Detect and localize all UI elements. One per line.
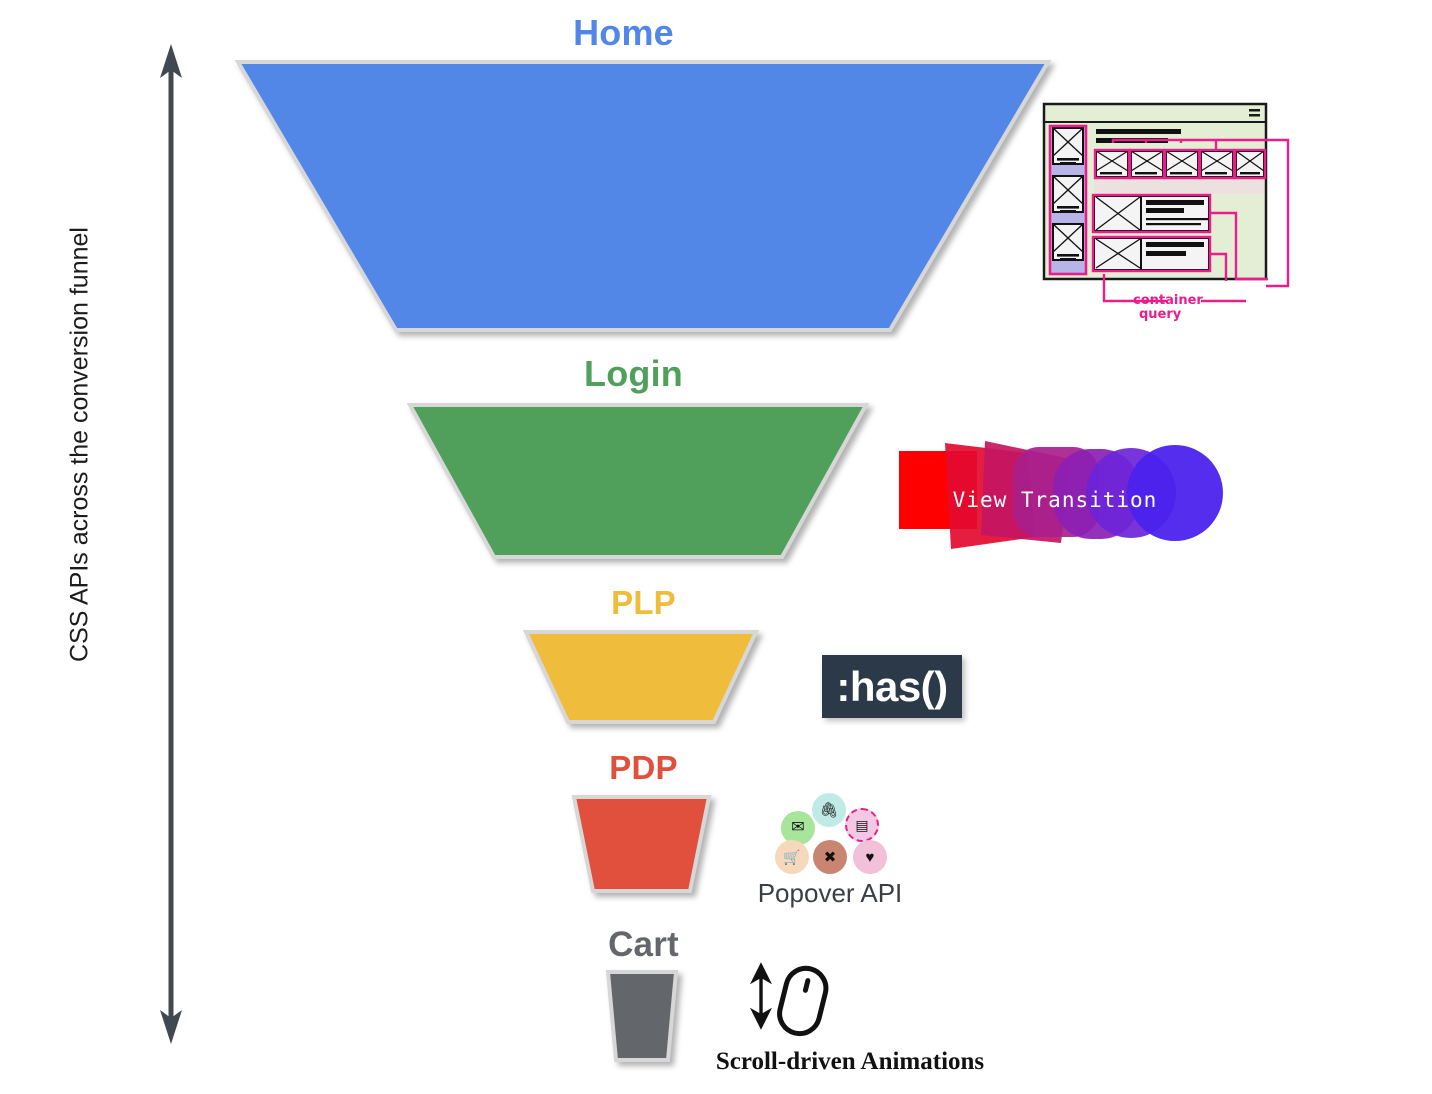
close-x-icon[interactable]: ✖ [813, 840, 847, 874]
view-transition-label: View Transition [885, 425, 1225, 575]
funnel-stage-pdp[interactable] [574, 797, 709, 891]
mouse-scroll-icon [745, 962, 845, 1040]
funnel-diagram-canvas: CSS APIs across the conversion funnel Ho… [0, 0, 1432, 1094]
popover-api-icon-cluster: ✉ 🖇 ▤ 🛒 ✖ ♥ [775, 793, 895, 875]
paperclip-icon[interactable]: 🖇 [812, 793, 846, 827]
container-query-label-line2: query [1139, 307, 1182, 322]
stage-label-home: Home [456, 12, 791, 54]
funnel-stage-login[interactable] [410, 405, 866, 557]
funnel-stage-cart[interactable] [608, 972, 676, 1060]
scroll-driven-animations-label: Scroll-driven Animations [655, 1048, 1045, 1076]
view-transition-illustration: View Transition [885, 425, 1225, 575]
stage-label-login: Login [466, 353, 801, 395]
shopping-cart-icon[interactable]: 🛒 [775, 840, 809, 874]
funnel-stage-plp[interactable] [526, 632, 756, 722]
funnel-stage-home[interactable] [238, 62, 1048, 330]
popover-api-label: Popover API [700, 878, 960, 909]
axis-label: CSS APIs across the conversion funnel [66, 165, 95, 725]
has-selector-label: :has() [836, 663, 947, 711]
floppy-disk-icon[interactable]: ▤ [845, 808, 879, 842]
heart-icon[interactable]: ♥ [853, 840, 887, 874]
stage-label-plp: PLP [476, 584, 811, 622]
vertical-axis-arrow [160, 44, 182, 1044]
stage-label-cart: Cart [476, 925, 811, 965]
has-selector-badge: :has() [822, 655, 962, 718]
container-query-label-line1: container [1133, 293, 1203, 308]
container-query-illustration: container query [1036, 96, 1336, 346]
stage-label-pdp: PDP [476, 749, 811, 787]
